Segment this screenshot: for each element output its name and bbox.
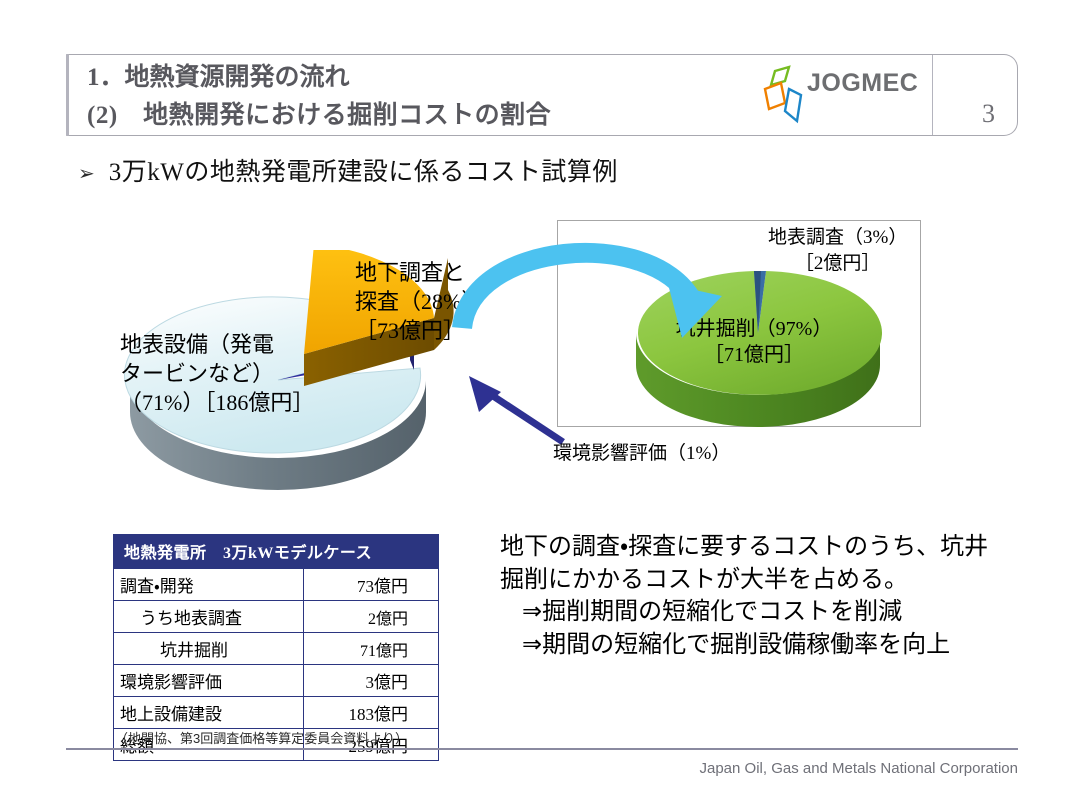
summary-text-line-3: ⇒掘削期間の短縮化でコストを削減: [500, 596, 1040, 629]
logo-orange-petal-icon: [765, 83, 785, 109]
slide-header: 1．地熱資源開発の流れ (2) 地熱開発における掘削コストの割合 JOGMEC …: [66, 54, 1018, 136]
header-title-block: 1．地熱資源開発の流れ (2) 地熱開発における掘削コストの割合: [87, 59, 787, 135]
jogmec-logo: JOGMEC: [751, 63, 921, 129]
cost-table-head: 地熱発電所 3万kWモデルケース: [114, 535, 439, 569]
footer-organization-name: Japan Oil, Gas and Metals National Corpo…: [699, 760, 1018, 777]
label-surface-equipment-l3: （71%）［186億円］: [120, 388, 314, 417]
cost-table-header-cell: 地熱発電所 3万kWモデルケース: [114, 535, 439, 569]
cost-table-header-row: 地熱発電所 3万kWモデルケース: [114, 535, 439, 569]
table-cell-value: 2億円: [303, 601, 438, 633]
header-title-line-1: 1．地熱資源開発の流れ: [87, 59, 787, 97]
jogmec-logo-text: JOGMEC: [807, 69, 918, 98]
table-cell-label: 環境影響評価: [114, 665, 304, 697]
summary-text-line-1: 地下の調査・探査に要するコストのうち、坑井: [500, 531, 1040, 564]
summary-text-block: 地下の調査・探査に要するコストのうち、坑井 掘削にかかるコストが大半を占める。 …: [500, 531, 1040, 662]
bullet-row: ➢ 3万kWの地熱発電所建設に係るコスト試算例: [78, 152, 618, 188]
label-subsurface-survey-l1: 地下調査と: [355, 258, 483, 287]
label-surface-survey: 地表調査（3%） ［2億円］: [768, 225, 907, 276]
label-well-drilling: 坑井掘削（97%） ［71億円］: [654, 316, 854, 368]
label-well-drilling-l2: ［71億円］: [654, 342, 854, 368]
slide-canvas: 1．地熱資源開発の流れ (2) 地熱開発における掘削コストの割合 JOGMEC …: [0, 0, 1080, 801]
label-subsurface-survey-l3: ［73億円］: [355, 316, 483, 345]
label-surface-equipment: 地表設備（発電 タービンなど） （71%）［186億円］: [120, 330, 314, 417]
table-row: うち地表調査 2億円: [114, 601, 439, 633]
label-subsurface-survey-l2: 探査（28%）: [355, 287, 483, 316]
table-cell-value: 73億円: [303, 569, 438, 601]
footer-divider: [66, 748, 1018, 750]
table-row: 環境影響評価 3億円: [114, 665, 439, 697]
source-footnote: （地開協、第3回調査価格等算定委員会資料より）: [115, 728, 408, 747]
label-surface-survey-l2: ［2億円］: [768, 251, 907, 277]
bullet-text: 3万kWの地熱発電所建設に係るコスト試算例: [109, 152, 618, 188]
label-surface-equipment-l2: タービンなど）: [120, 359, 314, 388]
summary-text-line-2: 掘削にかかるコストが大半を占める。: [500, 564, 1040, 597]
label-surface-survey-l1: 地表調査（3%）: [768, 225, 907, 251]
page-number: 3: [982, 99, 995, 129]
label-environment-assessment: 環境影響評価（1%）: [553, 441, 730, 466]
arrow-bullet-icon: ➢: [78, 163, 95, 183]
table-cell-value: 183億円: [303, 697, 438, 729]
environment-callout-arrow-icon: [455, 370, 575, 450]
table-row: 地上設備建設 183億円: [114, 697, 439, 729]
table-cell-label: 地上設備建設: [114, 697, 304, 729]
table-row: 調査・開発 73億円: [114, 569, 439, 601]
table-cell-label: 調査・開発: [114, 569, 304, 601]
summary-text-line-4: ⇒期間の短縮化で掘削設備稼働率を向上: [500, 629, 1040, 662]
table-cell-label: うち地表調査: [114, 601, 304, 633]
label-well-drilling-l1: 坑井掘削（97%）: [654, 316, 854, 342]
header-divider: [932, 55, 933, 135]
table-cell-value: 71億円: [303, 633, 438, 665]
table-row: 坑井掘削 71億円: [114, 633, 439, 665]
cost-model-table: 地熱発電所 3万kWモデルケース 調査・開発 73億円 うち地表調査 2億円 坑…: [113, 534, 439, 761]
header-title-line-2: (2) 地熱開発における掘削コストの割合: [87, 97, 787, 135]
table-cell-label: 坑井掘削: [114, 633, 304, 665]
logo-blue-petal-icon: [785, 89, 801, 121]
table-cell-value: 3億円: [303, 665, 438, 697]
label-surface-equipment-l1: 地表設備（発電: [120, 330, 314, 359]
label-subsurface-survey: 地下調査と 探査（28%） ［73億円］: [355, 258, 483, 345]
